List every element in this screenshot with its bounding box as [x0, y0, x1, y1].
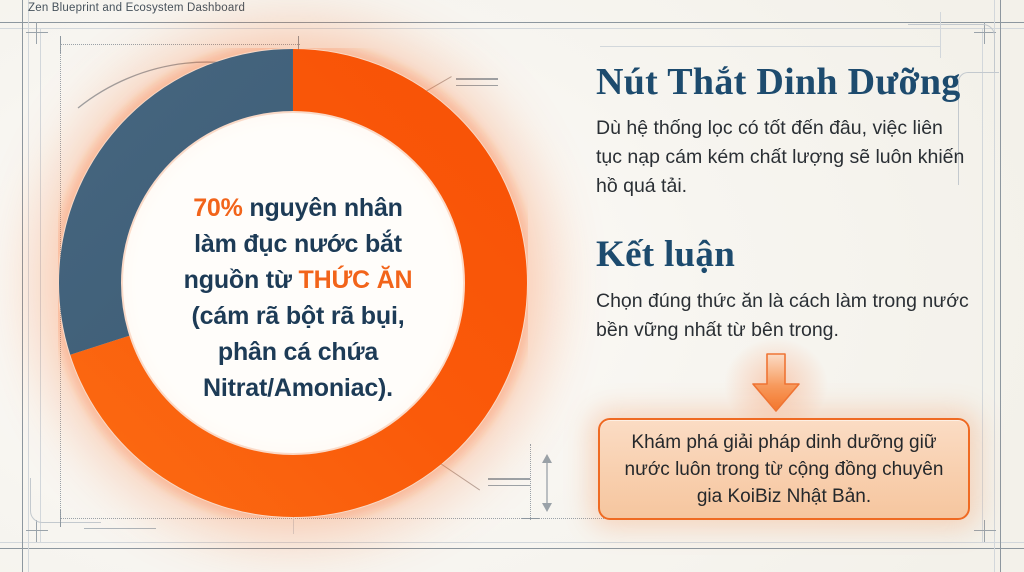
registration-mark-top-left — [26, 22, 48, 44]
section-heading-conclusion: Kết luận — [596, 233, 972, 277]
dimension-tick-center-bottom — [522, 518, 539, 519]
section-nutrition: Nút Thắt Dinh Dưỡng Dù hệ thống lọc có t… — [596, 60, 972, 201]
donut-label-line6: Nitrat/Amoniac). — [203, 374, 393, 402]
frame-line-left-inner — [28, 0, 29, 572]
content-column: Nút Thắt Dinh Dưỡng Dù hệ thống lọc có t… — [596, 60, 972, 345]
donut-chart: 70% nguyên nhân làm đục nước bắt nguồn t… — [58, 48, 528, 518]
donut-label-line3-pre: nguồn từ — [184, 266, 299, 294]
section-body-nutrition: Dù hệ thống lọc có tốt đến đâu, việc liê… — [596, 114, 972, 201]
arrow-down-icon — [744, 352, 808, 414]
donut-label-line4: (cám rã bột rã bụi, — [192, 302, 405, 330]
frame-line-bottom-inner — [0, 542, 1024, 543]
page-title: Zen Blueprint and Ecosystem Dashboard — [28, 2, 245, 14]
dimension-line-top — [60, 44, 300, 45]
cta-text: Khám phá giải pháp dinh dưỡng giữ nước l… — [600, 429, 968, 510]
dimension-subline-bottom — [84, 528, 156, 529]
dimension-line-bottom — [60, 518, 636, 519]
section-conclusion: Kết luận Chọn đúng thức ăn là cách làm t… — [596, 233, 972, 345]
cta-box[interactable]: Khám phá giải pháp dinh dưỡng giữ nước l… — [598, 418, 970, 520]
frame-line-bottom — [0, 548, 1024, 549]
donut-percent-value: 70% — [193, 194, 242, 222]
frame-line-right — [1000, 0, 1001, 572]
donut-center-label: 70% nguyên nhân làm đục nước bắt nguồn t… — [153, 190, 443, 406]
registration-mark-bottom-right — [974, 520, 996, 542]
donut-label-highlight: THỨC ĂN — [299, 266, 413, 294]
registration-mark-bottom-left — [26, 520, 48, 542]
donut-label-line1: nguyên nhân — [243, 194, 403, 222]
frame-line-left-secondary — [40, 28, 41, 542]
frame-rule-upper-right — [600, 46, 940, 47]
infographic-canvas: Zen Blueprint and Ecosystem Dashboard — [0, 0, 1024, 572]
donut-label-line5: phân cá chứa — [218, 338, 378, 366]
frame-line-top — [0, 22, 1024, 23]
frame-line-left — [22, 0, 23, 572]
section-heading-nutrition: Nút Thắt Dinh Dưỡng — [596, 60, 972, 104]
frame-line-top-inner — [0, 28, 1024, 29]
donut-label-line2: làm đục nước bắt — [194, 230, 402, 258]
